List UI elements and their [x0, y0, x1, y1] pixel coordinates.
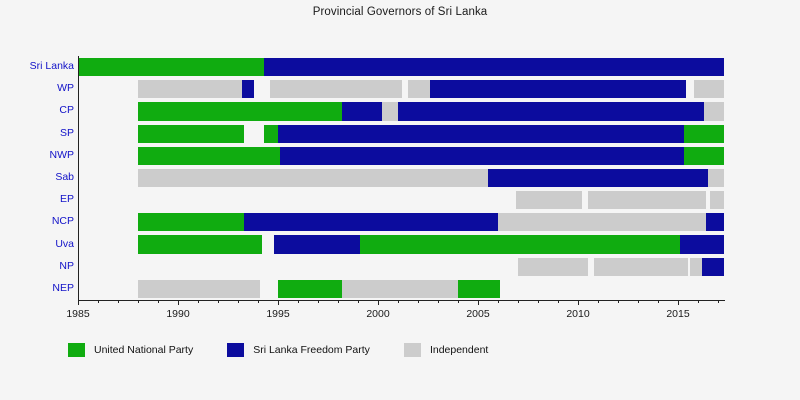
timeline-segment: [160, 235, 238, 253]
timeline-segment: [680, 58, 724, 76]
timeline-segment: [516, 191, 570, 209]
x-axis-tick-minor: [198, 300, 199, 303]
timeline-segment: [358, 80, 402, 98]
timeline-segment: [484, 58, 680, 76]
timeline-segment: [684, 147, 724, 165]
timeline-row: [78, 235, 724, 253]
legend-item-slfp[interactable]: Sri Lanka Freedom Party: [227, 343, 370, 357]
timeline-segment: [138, 169, 240, 187]
timeline-segment: [302, 235, 360, 253]
x-axis-tick-minor: [718, 300, 719, 303]
timeline-row: [78, 258, 724, 276]
x-axis-tick-minor: [298, 300, 299, 303]
legend-swatch-unp: [68, 343, 85, 357]
legend-item-unp[interactable]: United National Party: [68, 343, 193, 357]
x-axis-tick-minor: [518, 300, 519, 303]
x-axis-tick-minor: [98, 300, 99, 303]
x-axis-label-1995: 1995: [266, 308, 289, 320]
timeline-segment: [138, 102, 164, 120]
x-axis-tick-minor: [618, 300, 619, 303]
x-axis-tick-major: [78, 300, 79, 305]
x-axis-tick-minor: [258, 300, 259, 303]
x-axis-tick-minor: [538, 300, 539, 303]
timeline-segment: [244, 213, 364, 231]
timeline-segment: [684, 125, 724, 143]
timeline-segment: [138, 125, 178, 143]
timeline-segment: [362, 125, 422, 143]
y-axis-label-ep: EP: [60, 193, 74, 205]
timeline-segment: [452, 213, 498, 231]
y-axis-label-cp: CP: [59, 104, 74, 116]
timeline-segment: [690, 258, 702, 276]
chart-legend: United National PartySri Lanka Freedom P…: [68, 340, 522, 360]
legend-label-ind: Independent: [430, 344, 488, 356]
timeline-segment: [464, 235, 680, 253]
timeline-segment: [422, 125, 484, 143]
x-axis-tick-major: [378, 300, 379, 305]
y-axis-label-wp: WP: [57, 82, 74, 94]
timeline-segment: [138, 213, 152, 231]
timeline-segment: [264, 58, 484, 76]
timeline-segment: [270, 80, 358, 98]
x-axis-tick-minor: [118, 300, 119, 303]
timeline-segment: [710, 191, 724, 209]
timeline-segment: [572, 258, 588, 276]
legend-item-ind[interactable]: Independent: [404, 343, 488, 357]
timeline-segment: [138, 235, 160, 253]
x-axis-tick-minor: [658, 300, 659, 303]
x-axis-tick-minor: [238, 300, 239, 303]
timeline-segment: [458, 280, 500, 298]
legend-label-slfp: Sri Lanka Freedom Party: [253, 344, 370, 356]
timeline-segment: [582, 169, 708, 187]
timeline-row: [78, 280, 724, 298]
timeline-segment: [364, 213, 452, 231]
timeline-segment: [574, 80, 686, 98]
timeline-segment: [264, 125, 278, 143]
timeline-segment: [138, 80, 178, 98]
timeline-segment: [342, 102, 382, 120]
timeline-segment: [694, 80, 724, 98]
timeline-segment: [694, 102, 704, 120]
timeline-segment: [680, 235, 724, 253]
timeline-segment: [500, 147, 684, 165]
timeline-row: [78, 80, 724, 98]
y-axis-label-np: NP: [59, 260, 74, 272]
timeline-segment: [342, 280, 458, 298]
y-axis-label-nwp: NWP: [50, 149, 75, 161]
timeline-segment: [408, 80, 430, 98]
x-axis-tick-major: [678, 300, 679, 305]
timeline-segment: [278, 280, 342, 298]
x-axis-tick-minor: [638, 300, 639, 303]
timeline-segment: [246, 102, 342, 120]
x-axis-tick-major: [478, 300, 479, 305]
timeline-segment: [706, 213, 724, 231]
timeline-segment: [518, 258, 572, 276]
x-axis-tick-minor: [158, 300, 159, 303]
timeline-segment: [238, 235, 262, 253]
x-axis-tick-major: [278, 300, 279, 305]
x-axis-label-2010: 2010: [566, 308, 589, 320]
x-axis-tick-minor: [598, 300, 599, 303]
x-axis-tick-minor: [218, 300, 219, 303]
x-axis-tick-minor: [498, 300, 499, 303]
x-axis-tick-minor: [338, 300, 339, 303]
timeline-segment: [488, 169, 544, 187]
y-axis-label-sab: Sab: [55, 171, 74, 183]
timeline-row: [78, 125, 724, 143]
timeline-segment: [570, 191, 582, 209]
timeline-segment: [708, 169, 724, 187]
timeline-segment: [240, 147, 262, 165]
timeline-segment: [156, 147, 240, 165]
plot-area: [78, 56, 724, 300]
timeline-segment: [544, 169, 582, 187]
x-axis-line: [78, 300, 725, 301]
timeline-segment: [360, 235, 464, 253]
legend-label-unp: United National Party: [94, 344, 193, 356]
timeline-row: [78, 191, 724, 209]
x-axis-label-1990: 1990: [166, 308, 189, 320]
y-axis-line: [78, 56, 79, 300]
timeline-row: [78, 102, 724, 120]
timeline-segment: [498, 213, 706, 231]
timeline-segment: [178, 125, 244, 143]
timeline-segment: [484, 102, 694, 120]
timeline-segment: [242, 80, 254, 98]
x-axis-tick-minor: [458, 300, 459, 303]
timeline-segment: [382, 102, 398, 120]
timeline-segment: [588, 191, 706, 209]
timeline-segment: [278, 125, 362, 143]
legend-swatch-ind: [404, 343, 421, 357]
timeline-segment: [362, 147, 466, 165]
timeline-segment: [240, 58, 264, 76]
x-axis-tick-minor: [138, 300, 139, 303]
timeline-segment: [138, 147, 156, 165]
timeline-segment: [466, 147, 500, 165]
timeline-segment: [702, 258, 724, 276]
timeline-segment: [78, 58, 162, 76]
timeline-chart: Provincial Governors of Sri Lanka Sri La…: [0, 0, 800, 400]
timeline-segment: [704, 102, 724, 120]
timeline-row: [78, 147, 724, 165]
timeline-row: [78, 58, 724, 76]
timeline-segment: [594, 258, 688, 276]
timeline-segment: [240, 169, 488, 187]
x-axis-tick-minor: [438, 300, 439, 303]
y-axis-label-ncp: NCP: [52, 215, 74, 227]
x-axis-tick-minor: [358, 300, 359, 303]
timeline-segment: [274, 235, 302, 253]
x-axis-label-2015: 2015: [666, 308, 689, 320]
timeline-segment: [138, 280, 242, 298]
x-axis-tick-major: [178, 300, 179, 305]
timeline-segment: [262, 147, 280, 165]
timeline-segment: [430, 80, 574, 98]
x-axis-tick-minor: [398, 300, 399, 303]
timeline-segment: [242, 280, 260, 298]
legend-swatch-slfp: [227, 343, 244, 357]
timeline-segment: [280, 147, 362, 165]
timeline-segment: [152, 213, 244, 231]
y-axis-label-uva: Uva: [55, 238, 74, 250]
timeline-segment: [164, 102, 246, 120]
x-axis-tick-minor: [318, 300, 319, 303]
y-axis-label-sp: SP: [60, 127, 74, 139]
timeline-segment: [162, 58, 240, 76]
timeline-row: [78, 213, 724, 231]
x-axis-tick-major: [578, 300, 579, 305]
timeline-segment: [398, 102, 484, 120]
chart-title: Provincial Governors of Sri Lanka: [0, 6, 800, 18]
x-axis-tick-minor: [418, 300, 419, 303]
x-axis-label-2000: 2000: [366, 308, 389, 320]
x-axis-label-2005: 2005: [466, 308, 489, 320]
y-axis-label-nep: NEP: [52, 282, 74, 294]
x-axis-label-1985: 1985: [66, 308, 89, 320]
timeline-segment: [178, 80, 242, 98]
timeline-segment: [484, 125, 684, 143]
x-axis-tick-minor: [698, 300, 699, 303]
x-axis-tick-minor: [558, 300, 559, 303]
y-axis-label-sri-lanka: Sri Lanka: [30, 60, 74, 72]
timeline-row: [78, 169, 724, 187]
